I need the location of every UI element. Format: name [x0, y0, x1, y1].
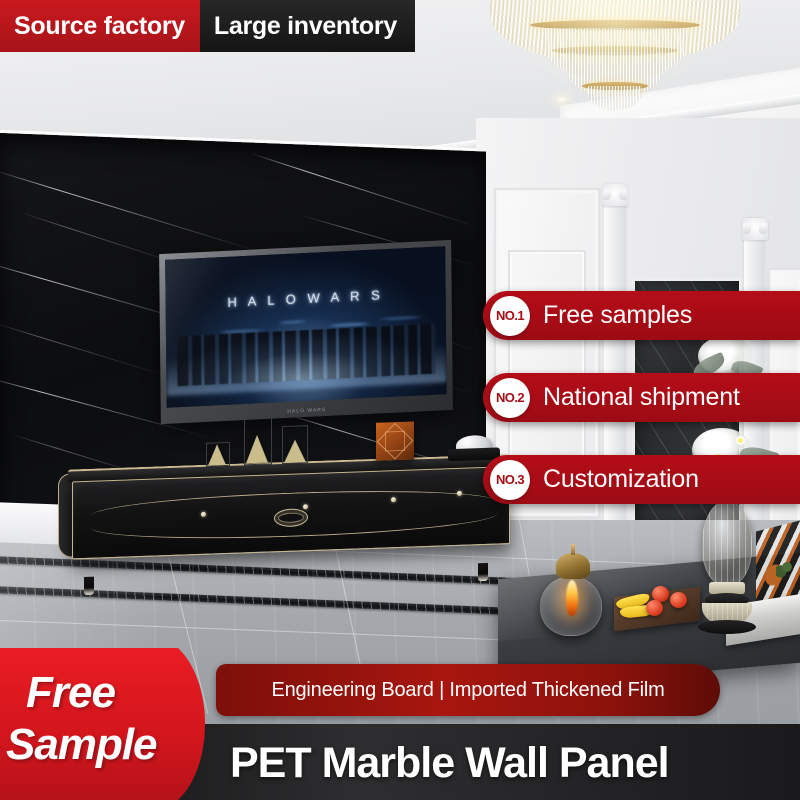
- product-poster: H A L O W A R S HALO WARS: [0, 0, 800, 800]
- product-subtitle: Engineering Board | Imported Thickened F…: [271, 679, 664, 702]
- feature-label: Customization: [543, 465, 699, 494]
- wall-mounted-tv: H A L O W A R S HALO WARS: [159, 240, 453, 424]
- marble-vein: [0, 169, 260, 253]
- product-title-wrap: PET Marble Wall Panel: [230, 734, 790, 792]
- feature-item-free-samples: NO.1 Free samples: [483, 291, 800, 340]
- tomato: [646, 600, 663, 616]
- feature-item-customization: NO.3 Customization: [483, 455, 800, 504]
- gold-pyramid-large: [246, 435, 268, 464]
- orange-geometric-ornament: [376, 421, 414, 460]
- console-body: [72, 466, 510, 559]
- banner-tag-source-factory: Source factory: [0, 0, 200, 52]
- crystal-chandelier: [490, 0, 740, 110]
- console-foot: [84, 577, 94, 595]
- gold-pyramid-medium: [284, 439, 306, 463]
- lamp-plinth: [698, 620, 756, 634]
- feature-label: National shipment: [543, 383, 740, 412]
- marble-vein: [0, 323, 179, 380]
- chandelier-fringe: [588, 86, 642, 110]
- banner-tag-large-inventory: Large inventory: [200, 0, 415, 52]
- feature-item-national-shipment: NO.2 National shipment: [483, 373, 800, 422]
- feature-rank-badge: NO.2: [490, 378, 530, 418]
- marble-vein: [250, 153, 481, 229]
- pilaster-capital: [602, 184, 628, 206]
- console-foot: [478, 563, 488, 581]
- tv-screen: H A L O W A R S: [165, 246, 447, 408]
- feature-label: Free samples: [543, 301, 692, 330]
- product-subtitle-bar: Engineering Board | Imported Thickened F…: [216, 664, 720, 716]
- tomato: [670, 592, 687, 608]
- candle-flame: [566, 580, 578, 616]
- plant-sprig: [776, 556, 798, 578]
- free-sample-line1: Free: [26, 668, 115, 718]
- feature-rank-badge: NO.3: [490, 460, 530, 500]
- product-title: PET Marble Wall Panel: [230, 739, 669, 788]
- pilaster-capital: [742, 218, 768, 240]
- free-sample-line2: Sample: [6, 720, 157, 770]
- brass-lid: [556, 553, 590, 579]
- feature-rank-badge: NO.1: [490, 296, 530, 336]
- tv-console: [58, 454, 510, 582]
- top-banner: Source factory Large inventory: [0, 0, 415, 52]
- free-sample-ribbon: Free Sample: [0, 648, 228, 800]
- bottom-banner: Engineering Board | Imported Thickened F…: [0, 648, 800, 800]
- gold-pyramid-small: [208, 444, 226, 466]
- feature-list: NO.1 Free samples NO.2 National shipment…: [483, 291, 800, 537]
